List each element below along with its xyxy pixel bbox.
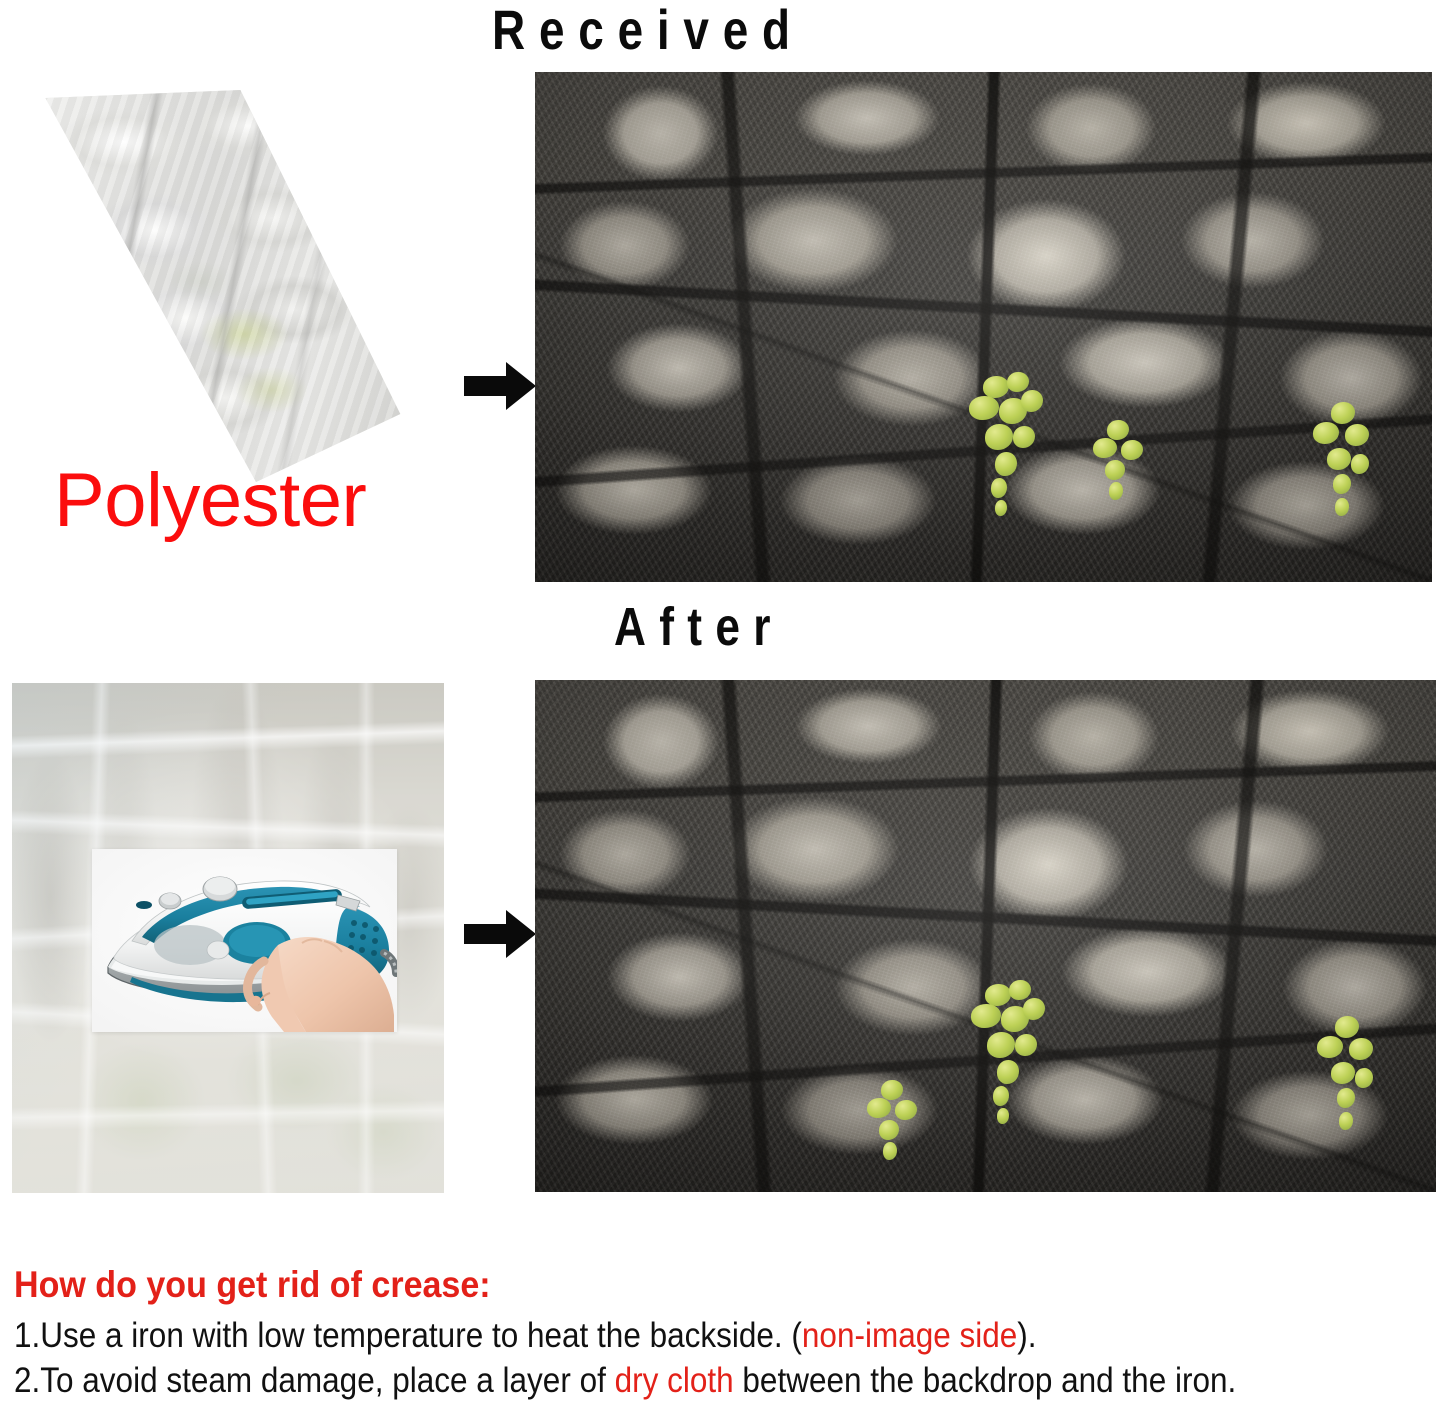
clothes-iron-icon — [92, 849, 397, 1032]
folded-polyester-fabric-photo — [22, 86, 412, 486]
instruction-1-highlight: non-image side — [802, 1316, 1017, 1355]
instruction-2-text-b: between the backdrop and the iron. — [734, 1361, 1237, 1400]
foliage-tuft — [1311, 1016, 1401, 1156]
fabric-crease-lines — [22, 86, 412, 486]
received-section-title: Received — [492, 2, 804, 58]
foliage-tuft — [865, 1080, 939, 1176]
instruction-2-text-a: 2.To avoid steam damage, place a layer o… — [14, 1361, 615, 1400]
infographic-canvas: Received Polyester — [0, 0, 1436, 1401]
received-rock-backdrop-photo — [535, 72, 1432, 582]
foliage-tuft — [965, 372, 1085, 522]
polyester-material-label: Polyester — [54, 463, 366, 539]
iron-demo-photo-card — [92, 849, 397, 1032]
instruction-2-highlight: dry cloth — [615, 1361, 734, 1400]
instruction-1-text-a: 1.Use a iron with low temperature to hea… — [14, 1316, 802, 1355]
care-instructions-block: How do you get rid of crease: 1.Use a ir… — [14, 1264, 1434, 1404]
instruction-1-text-b: ). — [1017, 1316, 1036, 1355]
foliage-tuft — [1307, 402, 1397, 542]
instruction-line-2: 2.To avoid steam damage, place a layer o… — [14, 1358, 1292, 1404]
after-section-title: After — [614, 600, 784, 654]
right-arrow-icon — [462, 906, 538, 962]
instruction-line-1: 1.Use a iron with low temperature to hea… — [14, 1313, 1292, 1359]
foliage-tuft — [1091, 420, 1165, 516]
right-arrow-icon — [462, 358, 538, 414]
after-rock-backdrop-photo — [535, 680, 1436, 1192]
instructions-heading: How do you get rid of crease: — [14, 1264, 1320, 1307]
foliage-tuft — [967, 980, 1087, 1130]
